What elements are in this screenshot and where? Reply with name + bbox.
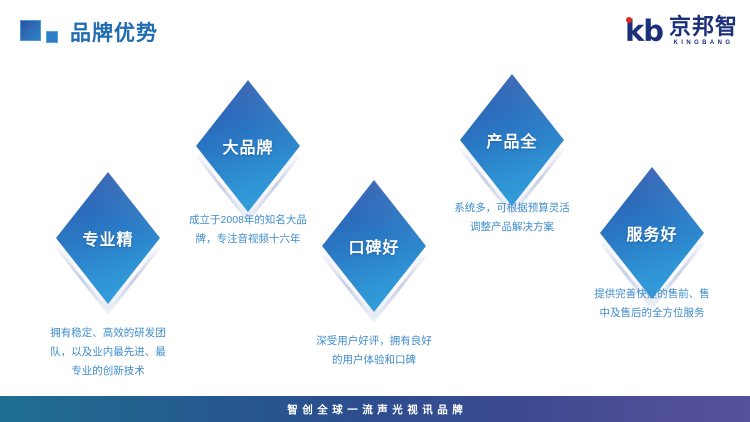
page-title: 品牌优势 [70,17,158,47]
brand-logo: kb 京邦智 KINGBANG [625,14,738,48]
slide-header: 品牌优势 kb 京邦智 KINGBANG [0,0,750,60]
diamond-label: 专业精 [82,226,133,250]
diamond-label: 产品全 [486,128,537,152]
slide-footer: 智创全球一流声光视讯品牌 [0,396,750,422]
diamond-label: 大品牌 [222,134,273,158]
diamond-face: 服务好 [600,167,704,299]
advantage-description: 成立于2008年的知名大品 牌，专注音视频十六年 [168,211,328,249]
diamond-shape: 专业精 [56,172,160,304]
diamond-face: 产品全 [460,74,564,206]
advantage-description: 系统多，可根据预算灵活 调整产品解决方案 [432,199,592,237]
logo-red-dot-icon [626,17,632,23]
logo-english-name: KINGBANG [669,40,738,46]
logo-mark-icon: kb [625,18,663,45]
advantage-description: 提供完善快捷的售前、售 中及售后的全方位服务 [572,285,732,323]
square-marker-small-icon [46,31,58,43]
advantage-description: 深受用户好评，拥有良好 的用户体验和口碑 [294,332,454,370]
diamond-face: 大品牌 [196,80,300,212]
diamond-label: 口碑好 [348,234,399,258]
footer-slogan: 智创全球一流声光视讯品牌 [283,402,468,417]
slide-root: 品牌优势 kb 京邦智 KINGBANG 专业精 拥有稳定、高效的研发团 队，以… [0,0,750,422]
square-marker-large-icon [20,20,41,41]
advantage-description: 拥有稳定、高效的研发团 队，以及业内最先进、最 专业的创新技术 [28,324,188,381]
diamond-label: 服务好 [626,221,677,245]
diamond-face: 口碑好 [322,180,426,312]
diamond-face: 专业精 [56,172,160,304]
diamond-shape: 服务好 [600,167,704,299]
diamond-shape: 口碑好 [322,180,426,312]
diamond-shape: 大品牌 [196,80,300,212]
logo-chinese-name: 京邦智 [669,16,738,38]
diamond-shape: 产品全 [460,74,564,206]
logo-wordmark: 京邦智 KINGBANG [669,16,738,46]
